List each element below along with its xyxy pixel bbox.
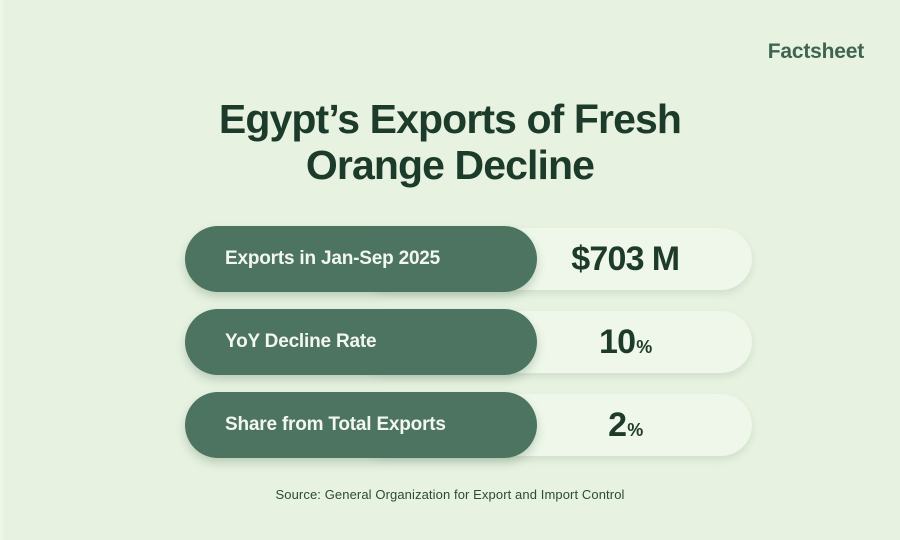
left-edge-highlight [0, 0, 6, 540]
source-note: Source: General Organization for Export … [0, 487, 900, 502]
factsheet-badge: Factsheet [768, 40, 864, 64]
stat-value-number: 2 [608, 406, 626, 445]
stat-label-pill: YoY Decline Rate [185, 309, 537, 375]
stat-value-unit: M [652, 240, 680, 279]
stat-row: $703 M Exports in Jan-Sep 2025 [185, 226, 755, 292]
stat-value-unit: % [636, 337, 652, 358]
page-title-line-2: Orange Decline [0, 142, 900, 188]
stat-value-number: 10 [599, 323, 635, 362]
stat-label: Exports in Jan-Sep 2025 [225, 248, 440, 270]
stat-value: $703 M [571, 240, 679, 279]
stat-row: 2 % Share from Total Exports [185, 392, 755, 458]
stat-label-pill: Share from Total Exports [185, 392, 537, 458]
page-title-line-1: Egypt’s Exports of Fresh [0, 96, 900, 142]
stat-label: YoY Decline Rate [225, 331, 376, 353]
stat-value: 2 % [608, 406, 643, 445]
stats-list: $703 M Exports in Jan-Sep 2025 10 % YoY … [185, 226, 755, 475]
stat-label-pill: Exports in Jan-Sep 2025 [185, 226, 537, 292]
stat-value-unit: % [627, 420, 643, 441]
stat-label: Share from Total Exports [225, 414, 446, 436]
page-title: Egypt’s Exports of Fresh Orange Decline [0, 96, 900, 188]
stat-value-number: $703 [571, 240, 643, 279]
stat-value: 10 % [599, 323, 652, 362]
factsheet-canvas: Factsheet Egypt’s Exports of Fresh Orang… [0, 0, 900, 540]
stat-row: 10 % YoY Decline Rate [185, 309, 755, 375]
